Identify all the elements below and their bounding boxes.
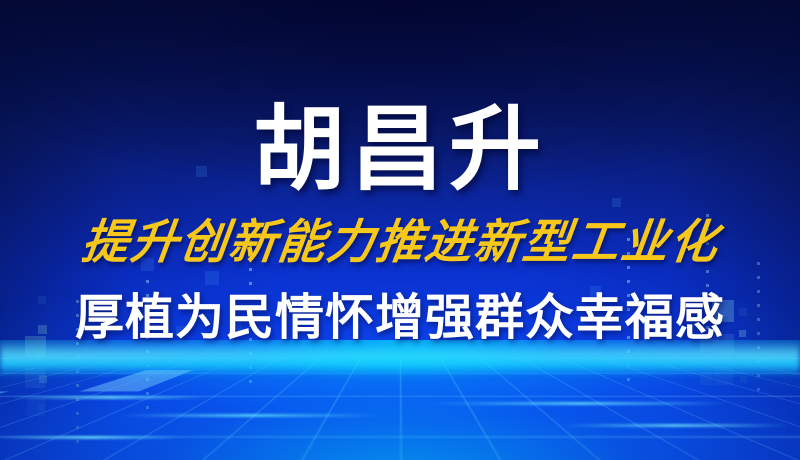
subtitle-calligraphy: 提升创新能力推进新型工业化: [79, 220, 722, 267]
banner-poster: 胡昌升 提升创新能力推进新型工业化 厚植为民情怀增强群众幸福感: [0, 0, 800, 460]
text-content: 胡昌升 提升创新能力推进新型工业化 厚植为民情怀增强群众幸福感: [0, 0, 800, 460]
tagline: 厚植为民情怀增强群众幸福感: [75, 294, 725, 343]
page-title: 胡昌升: [253, 104, 547, 196]
